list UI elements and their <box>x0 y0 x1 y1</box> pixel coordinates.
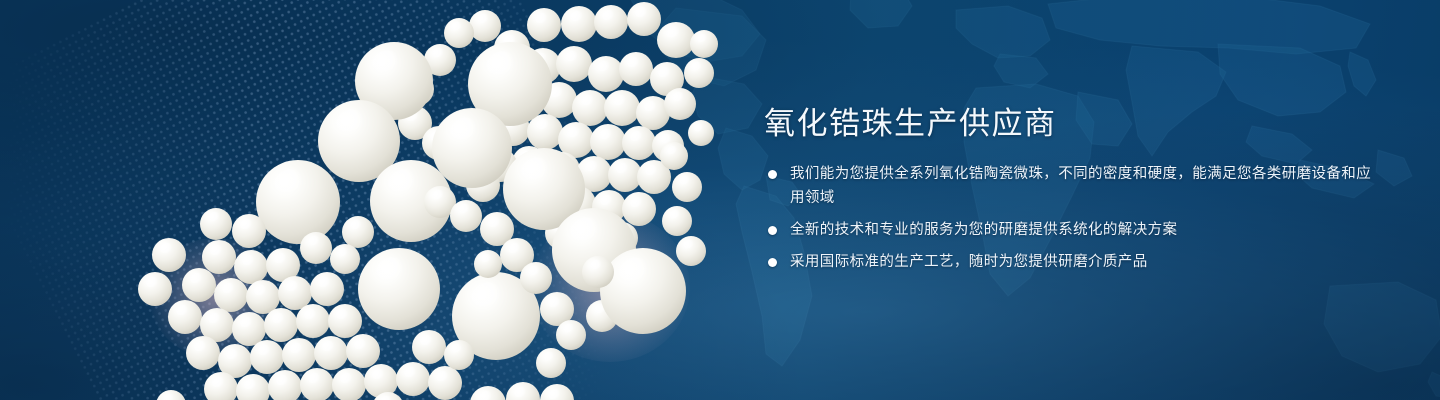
feature-list: 我们能为您提供全系列氧化锆陶瓷微珠，不同的密度和硬度，能满足您各类研磨设备和应用… <box>764 162 1384 274</box>
hero-banner: 氧化锆珠生产供应商 我们能为您提供全系列氧化锆陶瓷微珠，不同的密度和硬度，能满足… <box>0 0 1440 400</box>
bullet-dot-icon <box>768 226 777 235</box>
banner-copy: 氧化锆珠生产供应商 我们能为您提供全系列氧化锆陶瓷微珠，不同的密度和硬度，能满足… <box>764 104 1384 274</box>
list-item-label: 我们能为您提供全系列氧化锆陶瓷微珠，不同的密度和硬度，能满足您各类研磨设备和应用… <box>790 166 1371 206</box>
list-item-label: 采用国际标准的生产工艺，随时为您提供研磨介质产品 <box>790 254 1148 270</box>
list-item-label: 全新的技术和专业的服务为您的研磨提供系统化的解决方案 <box>790 222 1177 238</box>
page-title: 氧化锆珠生产供应商 <box>764 104 1384 144</box>
list-item: 采用国际标准的生产工艺，随时为您提供研磨介质产品 <box>764 250 1384 274</box>
list-item: 我们能为您提供全系列氧化锆陶瓷微珠，不同的密度和硬度，能满足您各类研磨设备和应用… <box>764 162 1384 210</box>
bullet-dot-icon <box>768 170 777 179</box>
bullet-dot-icon <box>768 258 777 267</box>
list-item: 全新的技术和专业的服务为您的研磨提供系统化的解决方案 <box>764 218 1384 242</box>
